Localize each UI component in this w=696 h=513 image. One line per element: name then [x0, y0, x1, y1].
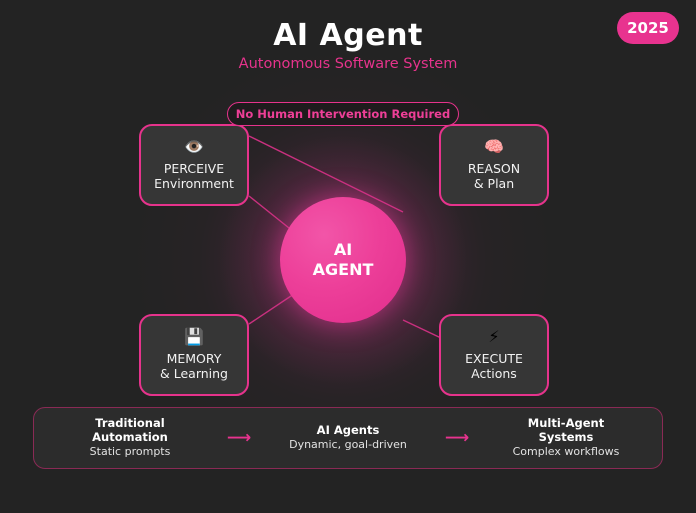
page-subtitle: Autonomous Software System: [0, 56, 696, 72]
pillar-subtitle: & Plan: [474, 176, 514, 191]
no-human-intervention-banner: No Human Intervention Required: [227, 102, 459, 126]
central-hub-ai-agent[interactable]: AI AGENT: [280, 197, 406, 323]
hub-line-1: AI: [334, 240, 352, 260]
pillar-subtitle: Environment: [154, 176, 234, 191]
pillar-title: MEMORY: [167, 352, 222, 366]
lightning-bolt-icon: ⚡: [488, 329, 499, 345]
brain-icon: 🧠: [484, 139, 504, 155]
pillar-title: REASON: [468, 162, 520, 176]
evolution-stage-title: Multi-Agent Systems: [528, 417, 604, 444]
pillar-card-memory[interactable]: 💾 MEMORY & Learning: [139, 314, 249, 396]
pillar-subtitle: & Learning: [160, 366, 228, 381]
evolution-stage-subtitle: Dynamic, goal-driven: [289, 438, 407, 452]
evolution-bar: Traditional Automation Static prompts ⟶ …: [33, 407, 663, 469]
year-badge: 2025: [617, 12, 679, 44]
pillar-card-execute[interactable]: ⚡ EXECUTE Actions: [439, 314, 549, 396]
pillar-title: PERCEIVE: [164, 162, 224, 176]
pillar-title: EXECUTE: [465, 352, 523, 366]
page-title: AI Agent: [0, 18, 696, 53]
infographic-canvas: AI Agent Autonomous Software System 2025…: [0, 0, 696, 513]
pillar-subtitle: Actions: [471, 366, 517, 381]
evolution-stage-traditional-automation: Traditional Automation Static prompts: [55, 417, 205, 459]
eye-icon: 👁️: [184, 139, 204, 155]
evolution-stage-multi-agent-systems: Multi-Agent Systems Complex workflows: [491, 417, 641, 459]
floppy-disk-icon: 💾: [184, 329, 204, 345]
evolution-stage-subtitle: Complex workflows: [513, 445, 620, 459]
evolution-stage-subtitle: Static prompts: [90, 445, 171, 459]
pillar-card-reason[interactable]: 🧠 REASON & Plan: [439, 124, 549, 206]
evolution-stage-title: AI Agents: [317, 424, 380, 438]
evolution-arrow-icon: ⟶: [205, 430, 273, 447]
evolution-stage-title: Traditional Automation: [92, 417, 168, 444]
hub-line-2: AGENT: [313, 260, 374, 280]
evolution-arrow-icon: ⟶: [423, 430, 491, 447]
evolution-stage-ai-agents: AI Agents Dynamic, goal-driven: [273, 424, 423, 453]
pillar-card-perceive[interactable]: 👁️ PERCEIVE Environment: [139, 124, 249, 206]
